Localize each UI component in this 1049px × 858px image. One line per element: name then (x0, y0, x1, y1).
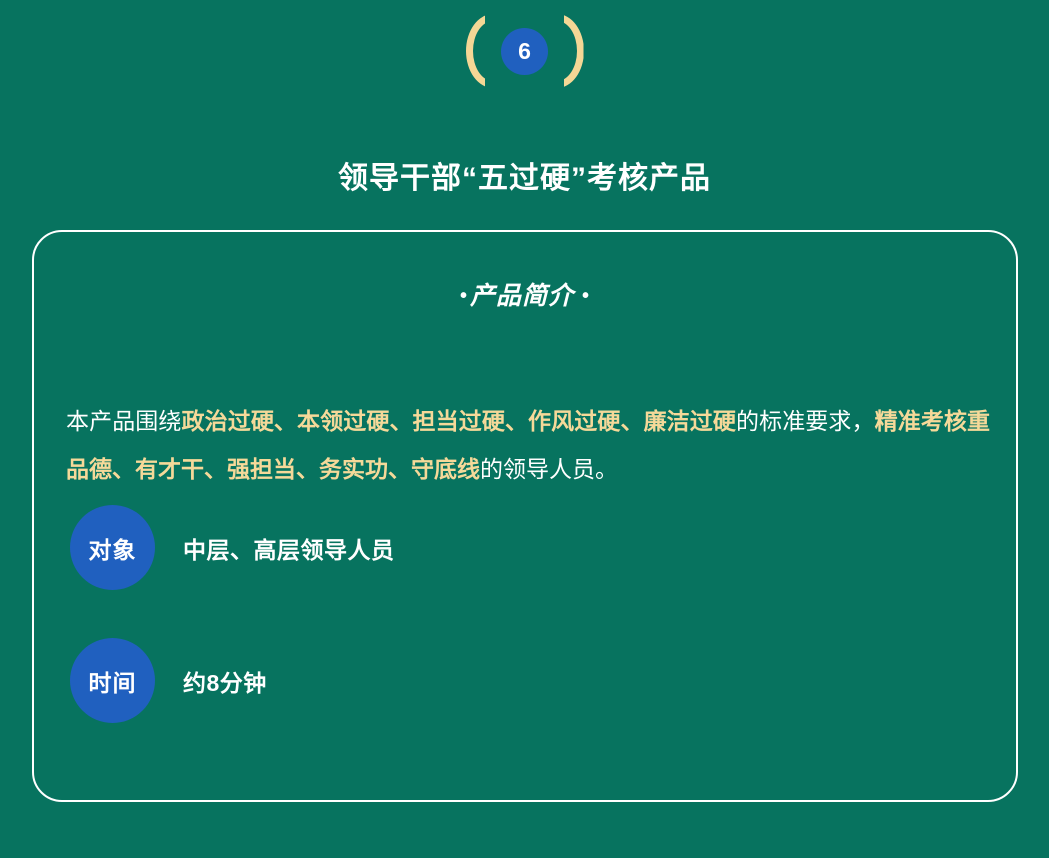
product-intro-card: •产品简介• 本产品围绕政治过硬、本领过硬、担当过硬、作风过硬、廉洁过硬的标准要… (32, 230, 1018, 802)
product-intro-paragraph: 本产品围绕政治过硬、本领过硬、担当过硬、作风过硬、廉洁过硬的标准要求，精准考核重… (66, 397, 990, 493)
meta-value-duration: 约8分钟 (183, 664, 267, 698)
section-number: 6 (501, 28, 548, 75)
meta-value-audience: 中层、高层领导人员 (183, 531, 395, 565)
page-title: 领导干部“五过硬”考核产品 (0, 161, 1049, 197)
meta-row-audience: 对象 中层、高层领导人员 (70, 505, 395, 590)
badge-parenthesis-wrap: 6 (470, 8, 580, 94)
bullet-dot-right-icon: • (582, 285, 590, 307)
section-heading: •产品简介• (34, 276, 1016, 312)
intro-text-plain-2: 的标准要求， (736, 408, 875, 434)
meta-row-duration: 时间 约8分钟 (70, 638, 267, 723)
meta-label-badge-duration: 时间 (70, 638, 155, 723)
bullet-dot-left-icon: • (460, 285, 468, 307)
section-number-badge: 6 (0, 6, 1049, 96)
section-heading-label: 产品简介 (470, 282, 574, 310)
meta-label-badge-audience: 对象 (70, 505, 155, 590)
intro-text-plain-3: 的领导人员。 (480, 456, 618, 482)
intro-text-highlight-1: 政治过硬、本领过硬、担当过硬、作风过硬、廉洁过硬 (182, 408, 736, 434)
intro-text-plain-1: 本产品围绕 (66, 408, 182, 434)
